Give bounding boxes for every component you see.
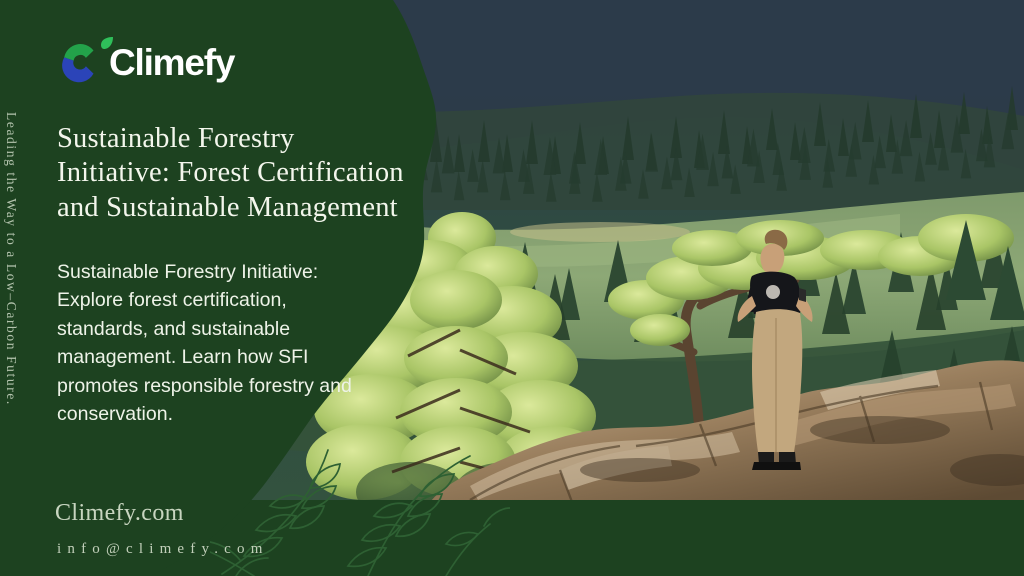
climefy-wordmark: Climefy [109,44,234,81]
page-title: Sustainable Forestry Initiative: Forest … [57,122,409,225]
email-label[interactable]: info@climefy.com [57,541,269,558]
content-layer: Leading the Way to a Low–Carbon Future. … [0,0,1024,576]
vertical-tagline: Leading the Way to a Low–Carbon Future. [3,112,19,552]
c-arc-logo-icon [57,40,101,84]
slide-canvas: Leading the Way to a Low–Carbon Future. … [0,0,1024,576]
description-text: Sustainable Forestry Initiative: Explore… [57,258,357,429]
website-label[interactable]: Climefy.com [55,500,184,527]
climefy-logo[interactable]: Climefy [57,40,234,84]
leaf-icon [100,36,114,50]
